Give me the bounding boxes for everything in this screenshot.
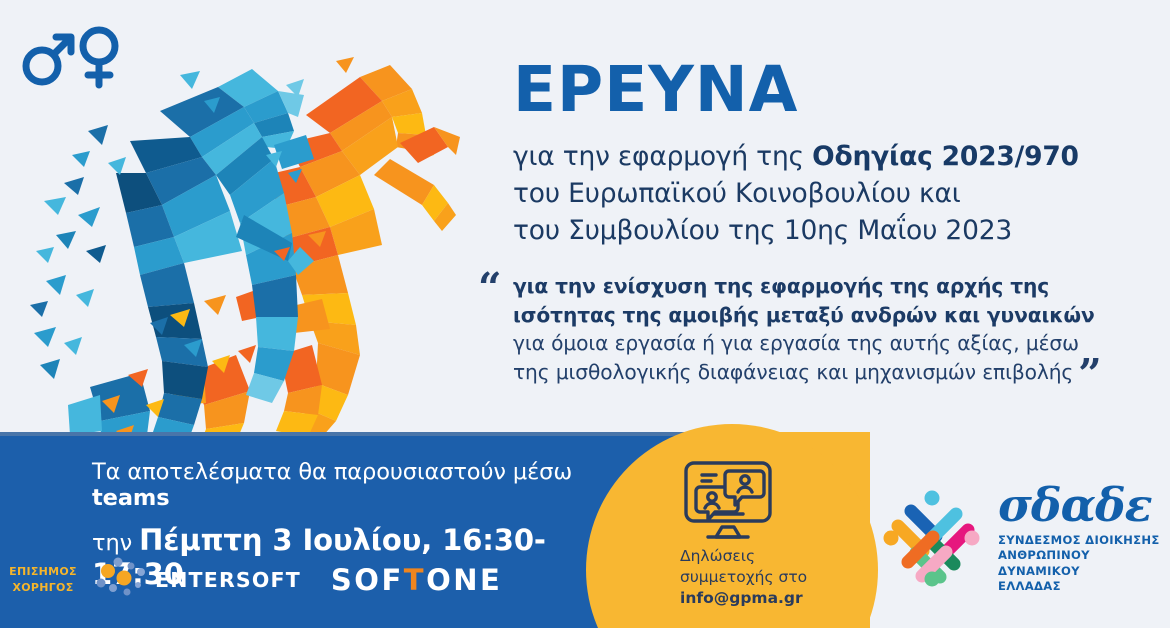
video-meeting-monitor-icon bbox=[680, 458, 776, 542]
low-poly-running-figures-illustration bbox=[30, 55, 500, 455]
registration-email[interactable]: info@gpma.gr bbox=[680, 589, 803, 607]
banner-line-2-normal: την bbox=[92, 530, 139, 556]
quote-bold-text: για την ενίσχυση της εφαρμογής της αρχής… bbox=[513, 274, 1095, 327]
entersoft-wordmark: ENTERSOFT bbox=[155, 568, 301, 592]
softone-accent-letter: T bbox=[404, 563, 426, 597]
softone-part-2: ONE bbox=[426, 563, 502, 597]
headline-column: ΕΡΕΥΝΑ για την εφαρμογή της Οδηγίας 2023… bbox=[513, 58, 1133, 249]
banner-line-1-bold: teams bbox=[92, 485, 170, 511]
sdade-subtitle-line-1: ΣΥΝΔΕΣΜΟΣ ΔΙΟΙΚΗΣΗΣ bbox=[998, 533, 1170, 549]
subtitle-line-2: του Ευρωπαϊκού Κοινοβουλίου και bbox=[513, 176, 1133, 213]
sdade-text-block: σδαδε ΣΥΝΔΕΣΜΟΣ ΔΙΟΙΚΗΣΗΣ ΑΝΘΡΩΠΙΝΟΥ ΔΥΝ… bbox=[998, 482, 1170, 595]
entersoft-logo[interactable]: ENTERSOFT bbox=[94, 557, 301, 603]
sdade-logo: σδαδε ΣΥΝΔΕΣΜΟΣ ΔΙΟΙΚΗΣΗΣ ΑΝΘΡΩΠΙΝΟΥ ΔΥΝ… bbox=[878, 482, 1170, 595]
official-sponsor-line-2: ΧΟΡΗΓΟΣ bbox=[6, 580, 80, 596]
banner-line-1: Τα αποτελέσματα θα παρουσιαστούν μέσω te… bbox=[92, 459, 612, 511]
sponsor-row: ΕΠΙΣΗΜΟΣ ΧΟΡΗΓΟΣ ENTERSOFT SOFTONE bbox=[6, 557, 502, 603]
registration-line-2: συμμετοχής στο bbox=[680, 567, 832, 588]
subtitle-line-1-normal: για την εφαρμογή της bbox=[513, 141, 812, 172]
subtitle-line-1-bold: Οδηγίας 2023/970 bbox=[812, 141, 1079, 172]
registration-block: Δηλώσεις συμμετοχής στο info@gpma.gr bbox=[672, 458, 832, 609]
softone-part-1: SOF bbox=[331, 563, 404, 597]
softone-logo[interactable]: SOFTONE bbox=[331, 563, 502, 597]
pinwheel-logo-icon bbox=[878, 484, 986, 592]
entersoft-dots-icon bbox=[94, 557, 150, 603]
sdade-subtitle-line-2: ΑΝΘΡΩΠΙΝΟΥ ΔΥΝΑΜΙΚΟΥ bbox=[998, 548, 1170, 579]
sdade-wordmark: σδαδε bbox=[998, 484, 1170, 528]
subtitle-block: για την εφαρμογή της Οδηγίας 2023/970 το… bbox=[513, 139, 1133, 249]
registration-text: Δηλώσεις συμμετοχής στο info@gpma.gr bbox=[680, 546, 832, 609]
official-sponsor-label: ΕΠΙΣΗΜΟΣ ΧΟΡΗΓΟΣ bbox=[6, 564, 80, 596]
poster-canvas: ΕΡΕΥΝΑ για την εφαρμογή της Οδηγίας 2023… bbox=[0, 0, 1170, 628]
banner-line-1-normal: Τα αποτελέσματα θα παρουσιαστούν μέσω bbox=[92, 459, 572, 485]
sdade-subtitle-line-3: ΕΛΛΑΔΑΣ bbox=[998, 579, 1170, 595]
official-sponsor-line-1: ΕΠΙΣΗΜΟΣ bbox=[6, 564, 80, 580]
quote-rest-text: για όμοια εργασία ή για εργασία της αυτή… bbox=[513, 331, 1079, 384]
subtitle-line-1: για την εφαρμογή της Οδηγίας 2023/970 bbox=[513, 139, 1133, 176]
quote-block: “για την ενίσχυση της εφαρμογής της αρχή… bbox=[513, 272, 1121, 387]
subtitle-line-3: του Συμβουλίου της 10ης Μαΐου 2023 bbox=[513, 213, 1133, 250]
sdade-subtitle: ΣΥΝΔΕΣΜΟΣ ΔΙΟΙΚΗΣΗΣ ΑΝΘΡΩΠΙΝΟΥ ΔΥΝΑΜΙΚΟΥ… bbox=[998, 533, 1170, 595]
registration-line-1: Δηλώσεις bbox=[680, 546, 832, 567]
page-title: ΕΡΕΥΝΑ bbox=[513, 58, 1133, 121]
